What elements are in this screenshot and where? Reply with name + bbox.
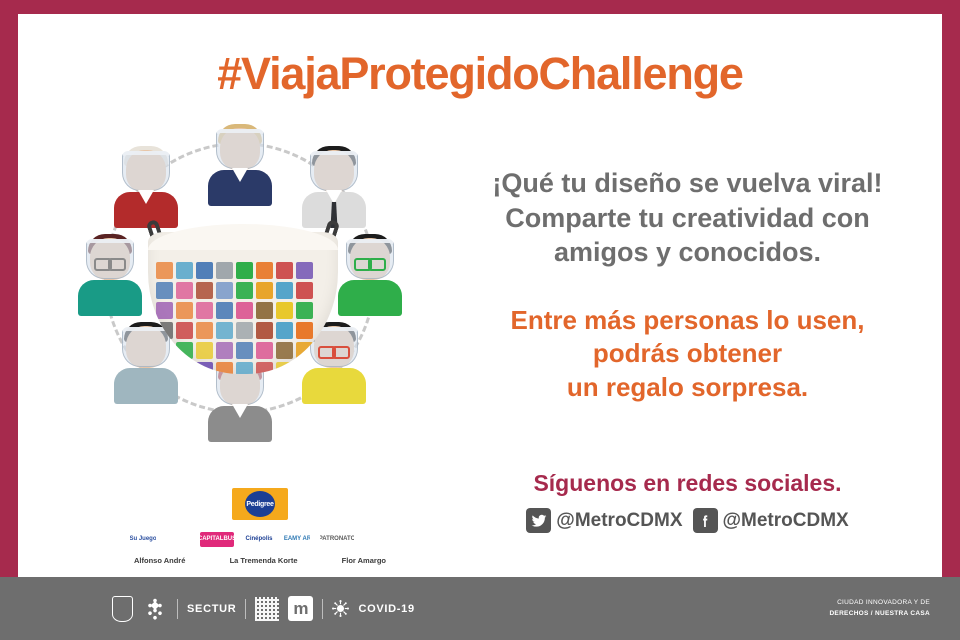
twitter-handle: @MetroCDMX <box>556 510 682 532</box>
illustration-group <box>60 120 420 450</box>
mask-body <box>148 232 338 374</box>
page-title: #ViajaProtegidoChallenge <box>0 48 960 100</box>
metro-station-icon <box>196 262 213 279</box>
metro-m-icon: m <box>288 596 313 621</box>
lead-line-3: amigos y conocidos. <box>440 235 935 270</box>
metro-station-icon <box>176 262 193 279</box>
metro-station-icon <box>276 282 293 299</box>
metro-station-icon <box>276 302 293 319</box>
torso <box>338 280 402 316</box>
artist-name: La Tremenda Korte <box>230 556 298 565</box>
lead-line-2: Comparte tu creatividad con <box>440 201 935 236</box>
poster-root: #ViajaProtegidoChallenge <box>0 0 960 640</box>
metro-station-icon <box>276 322 293 339</box>
cineypolis-logo: Cinépolis <box>244 532 274 547</box>
metro-icon-grid <box>156 262 330 374</box>
patronato-logo: PATRONATO <box>320 532 354 547</box>
metro-station-icon <box>236 302 253 319</box>
artist-name: Alfonso André <box>134 556 185 565</box>
metro-station-icon <box>256 362 273 374</box>
artist-names-row: Alfonso André La Tremenda Korte Flor Ama… <box>130 556 390 565</box>
gob-crest-icon <box>112 596 133 622</box>
metro-station-icon <box>216 362 233 374</box>
metro-station-icon <box>276 342 293 359</box>
tagline-line-1: CIUDAD INNOVADORA Y DE <box>829 598 930 608</box>
divider <box>322 599 323 619</box>
footer-bar: SECTUR m COVID-19 CIUDAD INNOVADORA Y DE… <box>0 577 960 640</box>
metro-station-icon <box>176 362 193 374</box>
sponsor-block: Pedigree Su JuegoCAPITALBUSCinépolisDREA… <box>130 488 390 565</box>
metro-station-icon <box>256 322 273 339</box>
sanjuego-logo: Su Juego <box>130 532 156 547</box>
metro-station-icon <box>156 342 173 359</box>
divider <box>177 599 178 619</box>
torso <box>78 280 142 316</box>
person-top <box>204 120 276 206</box>
metro-station-icon <box>176 282 193 299</box>
capitalbus-logo: CAPITALBUS <box>200 532 234 547</box>
main-sponsor-logo: Pedigree <box>232 488 288 520</box>
footer-logo-group: SECTUR m COVID-19 <box>112 596 415 622</box>
metro-station-icon <box>296 342 313 359</box>
metro-station-icon <box>196 362 213 374</box>
tagline-line-2: DERECHOS / NUESTRA CASA <box>829 609 930 619</box>
metro-station-icon <box>156 282 173 299</box>
metro-station-icon <box>236 282 253 299</box>
metro-station-icon <box>276 262 293 279</box>
divider <box>245 599 246 619</box>
metro-station-icon <box>296 282 313 299</box>
dreamyarts-logo: DREAMY ARTS <box>284 532 310 547</box>
red-swoosh-logo <box>364 532 390 547</box>
promo-line-2: podrás obtener <box>440 337 935 370</box>
metro-station-icon <box>236 362 253 374</box>
metro-station-icon <box>156 322 173 339</box>
metro-station-icon <box>236 342 253 359</box>
colorful-logo <box>166 532 190 547</box>
promo-paragraph: Entre más personas lo usen, podrás obten… <box>440 304 935 404</box>
facebook-handle: @MetroCDMX <box>723 510 849 532</box>
government-tagline: CIUDAD INNOVADORA Y DE DERECHOS / NUESTR… <box>829 598 930 618</box>
metro-station-icon <box>216 302 233 319</box>
metro-station-icon <box>176 322 193 339</box>
metro-station-icon <box>176 342 193 359</box>
metro-station-icon <box>176 302 193 319</box>
metro-station-icon <box>296 322 313 339</box>
twitter-account[interactable]: @MetroCDMX <box>526 508 682 533</box>
lead-paragraph: ¡Qué tu diseño se vuelva viral! Comparte… <box>440 166 935 270</box>
person-right <box>334 230 406 316</box>
metro-station-icon <box>236 262 253 279</box>
printed-face-mask <box>148 216 338 376</box>
mask-nose-edge <box>148 224 338 250</box>
glasses-icon <box>92 256 128 265</box>
metro-station-icon <box>196 282 213 299</box>
facebook-icon[interactable] <box>693 508 718 533</box>
metro-station-icon <box>216 262 233 279</box>
metro-station-icon <box>256 282 273 299</box>
artist-name: Flor Amargo <box>342 556 386 565</box>
sponsor-logo-row: Su JuegoCAPITALBUSCinépolisDREAMY ARTSPA… <box>130 530 390 548</box>
face-shield-icon <box>310 151 358 191</box>
promo-line-1: Entre más personas lo usen, <box>440 304 935 337</box>
metro-station-icon <box>216 342 233 359</box>
face-shield-icon <box>122 151 170 191</box>
main-sponsor-label: Pedigree <box>246 501 273 508</box>
metro-station-icon <box>256 342 273 359</box>
metro-station-icon <box>156 362 173 374</box>
face-shield-icon <box>216 129 264 169</box>
twitter-icon[interactable] <box>526 508 551 533</box>
metro-station-icon <box>196 342 213 359</box>
metro-station-icon <box>156 262 173 279</box>
metro-station-icon <box>196 322 213 339</box>
metro-station-icon <box>296 362 313 374</box>
metro-station-icon <box>256 262 273 279</box>
sectur-mark-icon <box>142 596 168 622</box>
metro-station-icon <box>196 302 213 319</box>
social-heading: Síguenos en redes sociales. <box>440 470 935 497</box>
promo-line-3: un regalo sorpresa. <box>440 371 935 404</box>
metro-station-icon <box>236 322 253 339</box>
metro-station-icon <box>256 302 273 319</box>
glasses-icon <box>352 256 388 265</box>
person-left <box>74 230 146 316</box>
lead-line-1: ¡Qué tu diseño se vuelva viral! <box>440 166 935 201</box>
covid-virus-icon <box>332 600 349 617</box>
metro-station-icon <box>296 302 313 319</box>
covid-label: COVID-19 <box>358 603 414 615</box>
metro-station-icon <box>156 302 173 319</box>
sectur-label: SECTUR <box>187 603 236 615</box>
aztec-pattern-icon <box>255 597 279 621</box>
metro-station-icon <box>216 322 233 339</box>
facebook-account[interactable]: @MetroCDMX <box>693 508 849 533</box>
metro-station-icon <box>216 282 233 299</box>
metro-station-icon <box>296 262 313 279</box>
metro-station-icon <box>276 362 293 374</box>
social-handles: @MetroCDMX @MetroCDMX <box>440 508 935 533</box>
